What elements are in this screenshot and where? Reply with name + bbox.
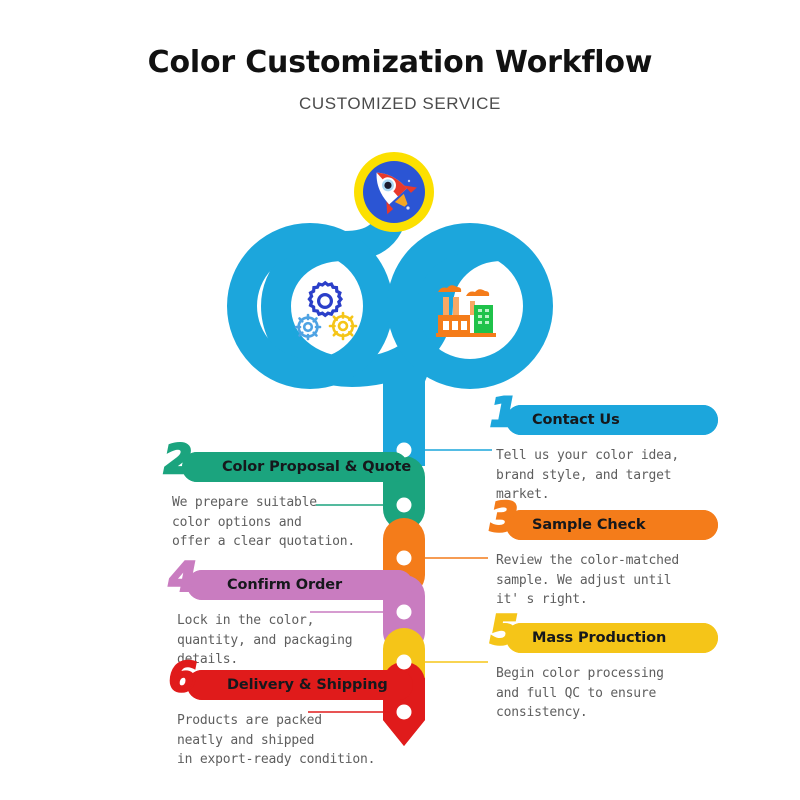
smoke-cloud-right — [466, 289, 489, 296]
step-2-number: 2 — [164, 440, 192, 480]
step-2-pill-label: Color Proposal & Quote — [182, 452, 408, 482]
step-1-head: 1 Contact Us — [468, 405, 718, 435]
gear-large — [309, 283, 341, 316]
step-6[interactable]: 6 Delivery & Shipping Products are packe… — [163, 670, 413, 770]
step-2-body: We prepare suitable color options and of… — [158, 493, 408, 552]
gear-small-blue — [296, 315, 320, 339]
chimney-1 — [443, 297, 449, 315]
step-6-head: 6 Delivery & Shipping — [163, 670, 413, 700]
step-4-number: 4 — [169, 558, 197, 598]
step-4-pill-label: Confirm Order — [187, 570, 413, 600]
step-3[interactable]: 3 Sample Check Review the color-matched … — [468, 510, 718, 610]
step-1-number: 1 — [490, 393, 518, 433]
step-1-title: Contact Us — [532, 412, 620, 428]
gear-small-yellow — [330, 313, 356, 339]
step-4-title: Confirm Order — [227, 577, 342, 593]
step-1[interactable]: 1 Contact Us Tell us your color idea, br… — [468, 405, 718, 505]
step-2-head: 2 Color Proposal & Quote — [158, 452, 408, 482]
step-6-pill-label: Delivery & Shipping — [187, 670, 413, 700]
step-5-title: Mass Production — [532, 630, 666, 646]
green-building — [474, 305, 493, 335]
step-6-number: 6 — [169, 658, 197, 698]
step-2-title: Color Proposal & Quote — [222, 459, 411, 475]
spine-dot-3 — [397, 551, 412, 566]
step-5-pill-label: Mass Production — [506, 623, 718, 653]
step-3-title: Sample Check — [532, 517, 645, 533]
step-5-body: Begin color processing and full QC to en… — [468, 664, 718, 723]
rocket-icon — [352, 150, 436, 234]
step-5-head: 5 Mass Production — [468, 623, 718, 653]
step-3-body: Review the color-matched sample. We adju… — [468, 551, 718, 610]
smoke-cloud-left — [438, 285, 461, 292]
step-2[interactable]: 2 Color Proposal & Quote We prepare suit… — [158, 452, 408, 552]
factory-icon — [432, 279, 502, 341]
step-3-number: 3 — [490, 498, 518, 538]
step-1-pill-label: Contact Us — [506, 405, 718, 435]
step-5[interactable]: 5 Mass Production Begin color processing… — [468, 623, 718, 723]
step-5-number: 5 — [490, 611, 518, 651]
step-6-body: Products are packed neatly and shipped i… — [163, 711, 413, 770]
step-4-body: Lock in the color, quantity, and packagi… — [163, 611, 413, 670]
gears-icon — [291, 279, 363, 341]
factory-base — [436, 333, 496, 337]
step-4[interactable]: 4 Confirm Order Lock in the color, quant… — [163, 570, 413, 670]
step-3-pill-label: Sample Check — [506, 510, 718, 540]
step-4-head: 4 Confirm Order — [163, 570, 413, 600]
step-3-head: 3 Sample Check — [468, 510, 718, 540]
chimney-2 — [453, 297, 459, 315]
infographic-canvas: Color Customization Workflow CUSTOMIZED … — [0, 0, 800, 800]
step-6-title: Delivery & Shipping — [227, 677, 388, 693]
